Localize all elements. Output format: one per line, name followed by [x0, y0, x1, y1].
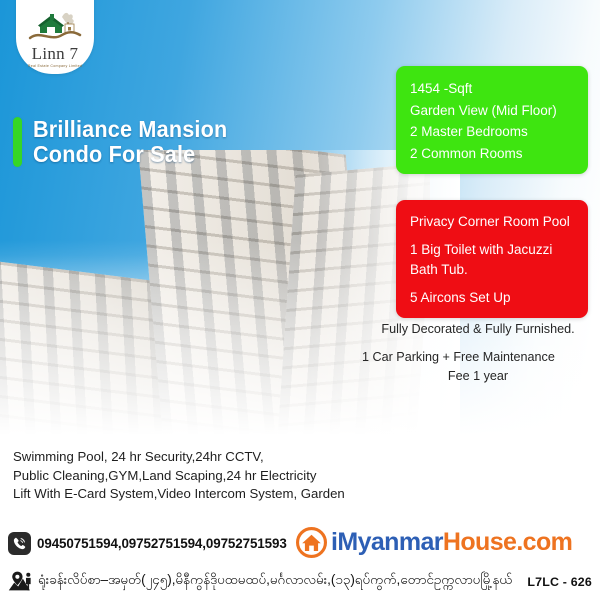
phone-glyph-icon — [12, 536, 27, 551]
company-logo-name: Linn 7 — [32, 45, 79, 62]
feature-item-pool: Privacy Corner Room Pool — [410, 212, 574, 232]
spec-card: 1454 -Sqft Garden View (Mid Floor) 2 Mas… — [396, 66, 588, 174]
reference-code: L7LC - 626 — [527, 575, 592, 589]
headline-line-2: Condo For Sale — [33, 142, 227, 167]
phone-icon — [8, 532, 31, 555]
building-photo — [0, 150, 430, 450]
spec-item-master-bedrooms: 2 Master Bedrooms — [410, 121, 574, 143]
feature-item-bathtub: Bath Tub. — [410, 260, 574, 280]
wordmark-imyanmar: iMyanmar — [331, 528, 443, 556]
amenities-list: Swimming Pool, 24 hr Security,24hr CCTV,… — [13, 448, 433, 504]
company-logo-tagline: Real Estate Company Limited — [28, 64, 82, 68]
note-parking: 1 Car Parking + Free Maintenance — [360, 348, 596, 367]
office-address-row: ရုံးခန်းလိပ်စာ–အမှတ်(၂၄၅),မိနီကွန်ဒိုပထမ… — [8, 570, 592, 592]
house-circle-icon — [296, 527, 327, 558]
phone-numbers: 09450751594,09752751594,09752751593 — [37, 536, 287, 551]
imyanmarhouse-wordmark: iMyanmarHouse.com — [331, 530, 572, 555]
real-estate-advertisement: Linn 7 Real Estate Company Limited Brill… — [0, 0, 600, 600]
amenities-line-3: Lift With E-Card System,Video Intercom S… — [13, 485, 433, 504]
spec-item-view: Garden View (Mid Floor) — [410, 100, 574, 122]
extra-notes: Fully Decorated & Fully Furnished. 1 Car… — [360, 320, 596, 386]
window-grid — [0, 257, 165, 450]
spec-item-size: 1454 -Sqft — [410, 78, 574, 100]
feature-item-toilet: 1 Big Toilet with Jacuzzi — [410, 240, 574, 260]
feature-card: Privacy Corner Room Pool 1 Big Toilet wi… — [396, 200, 588, 318]
wordmark-housecom: House.com — [443, 528, 572, 556]
feature-item-aircons: 5 Aircons Set Up — [410, 288, 574, 308]
headline: Brilliance Mansion Condo For Sale — [13, 117, 240, 167]
spec-item-common-rooms: 2 Common Rooms — [410, 143, 574, 165]
building-left-block — [0, 257, 165, 450]
amenities-line-1: Swimming Pool, 24 hr Security,24hr CCTV, — [13, 448, 433, 467]
office-address-text: ရုံးခန်းလိပ်စာ–အမှတ်(၂၄၅),မိနီကွန်ဒိုပထမ… — [38, 571, 512, 591]
headline-line-1: Brilliance Mansion — [33, 117, 227, 142]
note-fee: Fee 1 year — [360, 367, 596, 386]
contact-phone-row[interactable]: 09450751594,09752751594,09752751593 — [8, 532, 287, 555]
note-furnished: Fully Decorated & Fully Furnished. — [360, 320, 596, 339]
company-logo: Linn 7 Real Estate Company Limited — [16, 0, 94, 74]
house-tree-logo-icon — [25, 10, 85, 44]
imyanmarhouse-logo[interactable]: iMyanmarHouse.com — [296, 527, 572, 558]
map-pin-icon — [8, 570, 33, 592]
headline-accent-bar — [13, 117, 22, 167]
amenities-line-2: Public Cleaning,GYM,Land Scaping,24 hr E… — [13, 467, 433, 486]
